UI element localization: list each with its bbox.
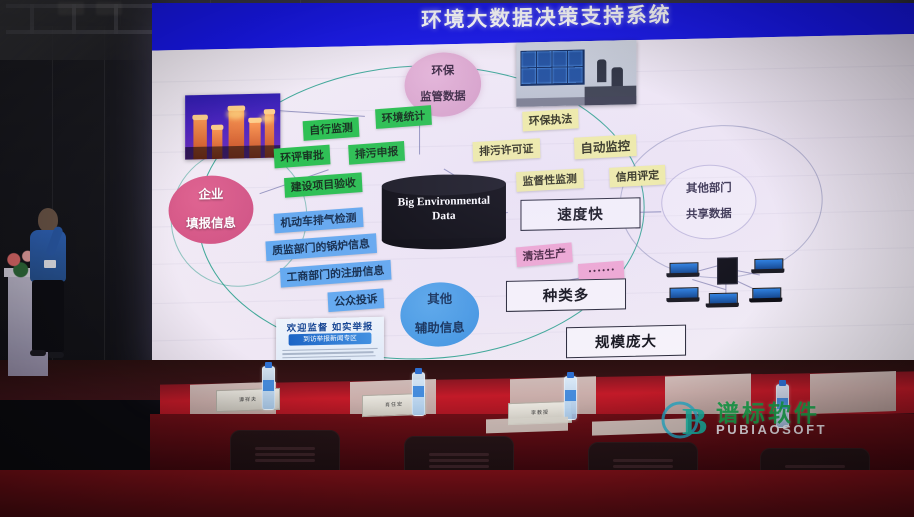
laptop-network-diagram xyxy=(667,240,783,321)
water-bottle xyxy=(262,366,275,410)
node-label-line2: 监管数据 xyxy=(420,91,466,105)
laptop-icon xyxy=(754,258,781,275)
feature-box-speed[interactable]: 速度快 xyxy=(520,197,640,231)
node-label-line2: 共享数据 xyxy=(686,208,732,222)
tag-green-3[interactable]: 排污申报 xyxy=(348,141,405,165)
tag-blue-3[interactable]: 公众投诉 xyxy=(327,288,384,312)
laptop-icon xyxy=(752,287,779,304)
node-label-line2: 辅助信息 xyxy=(415,321,465,336)
slide-title: 环境大数据决策支持系统 xyxy=(421,3,671,33)
svg-text:B: B xyxy=(682,401,707,443)
node-label-line1: 其他 xyxy=(415,292,465,307)
node-label-line2: 填报信息 xyxy=(186,216,236,231)
screenshot-root: 环境大数据决策支持系统 xyxy=(0,0,914,517)
poster-band: 到访举报新闻专区 xyxy=(289,333,371,346)
wall-panel xyxy=(104,26,157,400)
watermark: B 谱标软件 PUBIAOSOFT xyxy=(660,392,870,448)
feature-box-volume[interactable]: 规模庞大 xyxy=(566,325,686,359)
refinery-night-photo xyxy=(185,93,280,159)
watermark-en: PUBIAOSOFT xyxy=(716,422,827,437)
slide-body: 欢迎监督 如实举报 到访举报新闻专区 网上举报须知 xyxy=(152,33,914,381)
tag-yellow-3[interactable]: 监督性监测 xyxy=(516,168,583,191)
tag-yellow-2[interactable]: 自动监控 xyxy=(574,134,637,159)
laptop-icon xyxy=(670,287,697,304)
stage-front-drape xyxy=(0,470,914,517)
big-environmental-data-cylinder[interactable]: Big Environmental Data xyxy=(382,173,506,250)
tag-yellow-1[interactable]: 排污许可证 xyxy=(473,138,540,161)
node-label-line1: 企业 xyxy=(186,188,236,203)
tag-green-0[interactable]: 自行监测 xyxy=(303,117,360,141)
projection-screen: 环境大数据决策支持系统 xyxy=(152,3,914,381)
feature-box-variety[interactable]: 种类多 xyxy=(506,278,626,312)
laptop-icon xyxy=(670,262,697,279)
ceiling-truss xyxy=(0,0,160,60)
control-room-photo xyxy=(516,40,636,107)
node-label-line1: 环保 xyxy=(420,64,466,78)
laptop-icon xyxy=(709,292,736,309)
presenter xyxy=(24,208,80,378)
db-label-line2: Data xyxy=(432,209,455,222)
tag-green-2[interactable]: 环评审批 xyxy=(274,145,331,169)
tag-green-1[interactable]: 环境统计 xyxy=(375,105,432,129)
node-label-line1: 其他部门 xyxy=(686,182,732,196)
water-bottle xyxy=(564,376,577,420)
tag-yellow-4[interactable]: 信用评定 xyxy=(609,165,666,188)
water-bottle xyxy=(412,372,425,416)
server-icon xyxy=(717,257,738,284)
brand-b-logo-icon: B xyxy=(660,396,712,444)
db-label-line1: Big Environmental xyxy=(398,194,490,208)
tag-yellow-0[interactable]: 环保执法 xyxy=(522,109,579,132)
